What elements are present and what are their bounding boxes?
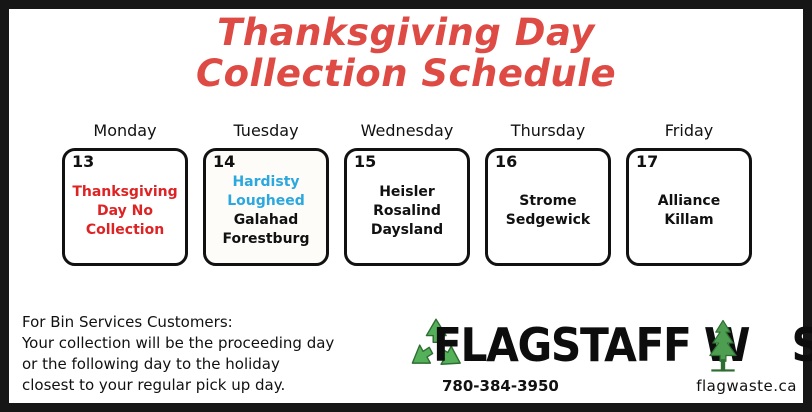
day-header-wednesday: Wednesday: [361, 121, 454, 141]
note-line: or the following day to the holiday: [22, 354, 412, 375]
title-line-1: Thanksgiving Day: [9, 12, 803, 53]
date-number-thursday: 16: [495, 153, 517, 171]
day-entries-tuesday: Hardisty Lougheed Galahad Forestburg: [210, 173, 322, 249]
day-column-friday: Friday 17 Alliance Killam: [625, 121, 753, 266]
day-header-thursday: Thursday: [511, 121, 585, 141]
logo-phone-number: 780-384-3950: [442, 377, 559, 395]
entry-text: Daysland: [351, 221, 463, 240]
day-card-tuesday: 14 Hardisty Lougheed Galahad Forestburg: [203, 148, 329, 266]
pine-tree-icon: [699, 319, 747, 373]
day-column-thursday: Thursday 16 Strome Sedgewick: [484, 121, 612, 266]
day-card-wednesday: 15 Heisler Rosalind Daysland: [344, 148, 470, 266]
title-line-2: Collection Schedule: [9, 53, 803, 94]
entry-text: Alliance: [633, 192, 745, 211]
entry-text: Strome: [492, 192, 604, 211]
flagstaff-waste-logo: FLAGSTAFF W STE 780-384-3950 flagwaste.c…: [407, 315, 799, 407]
logo-wordmark-row: FLAGSTAFF W STE: [407, 315, 799, 375]
note-line: For Bin Services Customers:: [22, 312, 412, 333]
entry-text: Sedgewick: [492, 211, 604, 230]
note-line: closest to your regular pick up day.: [22, 375, 412, 396]
day-card-friday: 17 Alliance Killam: [626, 148, 752, 266]
day-column-monday: Monday 13 Thanksgiving Day No Collection: [61, 121, 189, 266]
entry-text: Day No: [69, 202, 181, 221]
week-schedule-row: Monday 13 Thanksgiving Day No Collection…: [61, 121, 753, 266]
date-number-tuesday: 14: [213, 153, 235, 171]
bin-services-note: For Bin Services Customers: Your collect…: [22, 312, 412, 396]
entry-text: Thanksgiving: [69, 183, 181, 202]
day-entries-monday: Thanksgiving Day No Collection: [69, 183, 181, 240]
day-entries-wednesday: Heisler Rosalind Daysland: [351, 183, 463, 240]
entry-text: Hardisty: [210, 173, 322, 192]
logo-website: flagwaste.ca: [696, 377, 797, 395]
day-column-tuesday: Tuesday 14 Hardisty Lougheed Galahad For…: [202, 121, 330, 266]
entry-text: Rosalind: [351, 202, 463, 221]
entry-text: Heisler: [351, 183, 463, 202]
day-column-wednesday: Wednesday 15 Heisler Rosalind Daysland: [343, 121, 471, 266]
day-header-tuesday: Tuesday: [233, 121, 298, 141]
logo-wordmark: FLAGSTAFF W STE: [433, 321, 812, 369]
date-number-monday: 13: [72, 153, 94, 171]
day-entries-thursday: Strome Sedgewick: [492, 192, 604, 230]
day-card-thursday: 16 Strome Sedgewick: [485, 148, 611, 266]
day-card-monday: 13 Thanksgiving Day No Collection: [62, 148, 188, 266]
entry-text: Galahad: [210, 211, 322, 230]
entry-text: Forestburg: [210, 230, 322, 249]
poster-title: Thanksgiving Day Collection Schedule: [9, 12, 803, 94]
date-number-wednesday: 15: [354, 153, 376, 171]
note-line: Your collection will be the proceeding d…: [22, 333, 412, 354]
entry-text: Lougheed: [210, 192, 322, 211]
logo-wordmark-part2: STE: [792, 318, 812, 372]
day-header-friday: Friday: [665, 121, 714, 141]
entry-text: Collection: [69, 221, 181, 240]
thanksgiving-collection-schedule-poster: Thanksgiving Day Collection Schedule Mon…: [0, 0, 812, 412]
date-number-friday: 17: [636, 153, 658, 171]
entry-text: Killam: [633, 211, 745, 230]
day-entries-friday: Alliance Killam: [633, 192, 745, 230]
day-header-monday: Monday: [93, 121, 156, 141]
